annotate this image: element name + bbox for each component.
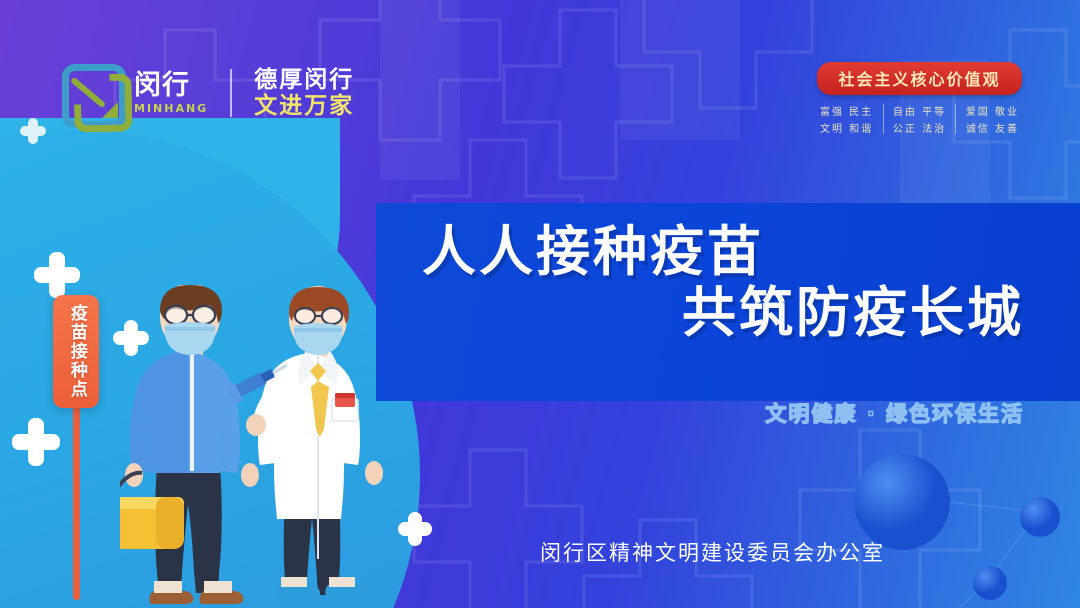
sign-pole	[73, 400, 80, 600]
core-values-banner: 社会主义核心价值观	[817, 62, 1022, 95]
core-values-separator	[883, 104, 884, 134]
core-values-banner-label: 社会主义核心价值观	[838, 70, 1000, 89]
core-values-grid: 富强 民主 文明 和谐 自由 平等 公正 法治 爱国 敬业 诚信 友善	[817, 103, 1022, 135]
title-line-1: 人人接种疫苗	[422, 221, 1024, 282]
core-values-text: 自由 平等	[893, 103, 946, 118]
decorative-cross-icon	[12, 418, 60, 466]
decorative-spheres	[840, 420, 1080, 608]
logo-divider	[230, 69, 232, 117]
poster-canvas: 疫苗接种点 闵行 MINHANG 德厚闵行 文进万家 社会主义核心价值观 富强 …	[0, 0, 1080, 608]
logo-english-name: MINHANG	[134, 102, 208, 115]
core-values-text: 公正 法治	[893, 120, 946, 135]
core-values-text: 爱国 敬业	[966, 103, 1019, 118]
core-values-text: 诚信 友善	[966, 120, 1019, 135]
core-values-column: 爱国 敬业 诚信 友善	[966, 103, 1019, 135]
doctor-figure	[226, 286, 383, 598]
core-values-block: 社会主义核心价值观 富强 民主 文明 和谐 自由 平等 公正 法治 爱国 敬业 …	[817, 62, 1022, 135]
minhang-logo[interactable]: 闵行 MINHANG 德厚闵行 文进万家	[60, 62, 354, 124]
title-line-2: 共筑防疫长城	[422, 282, 1024, 343]
citizen-figure	[120, 285, 259, 604]
illustration-people	[120, 285, 410, 608]
logo-slogan-line2: 文进万家	[254, 95, 354, 118]
decorative-cross-icon	[20, 118, 46, 144]
decorative-cross-icon	[34, 252, 80, 298]
logo-chinese-name: 闵行	[134, 72, 208, 99]
core-values-column: 富强 民主 文明 和谐	[820, 103, 873, 135]
organization-name: 闵行区精神文明建设委员会办公室	[540, 537, 885, 567]
logo-slogan: 德厚闵行 文进万家	[254, 69, 354, 118]
core-values-text: 文明 和谐	[820, 120, 873, 135]
title-block: 人人接种疫苗 共筑防疫长城	[376, 203, 1080, 401]
core-values-text: 富强 民主	[820, 103, 873, 118]
vaccination-point-sign-label: 疫苗接种点	[66, 304, 86, 399]
logo-slogan-line1: 德厚闵行	[254, 69, 354, 92]
core-values-column: 自由 平等 公正 法治	[893, 103, 946, 135]
core-values-separator	[955, 104, 956, 134]
vaccination-point-sign[interactable]: 疫苗接种点	[53, 295, 99, 408]
minhang-logo-mark-icon	[60, 62, 122, 124]
